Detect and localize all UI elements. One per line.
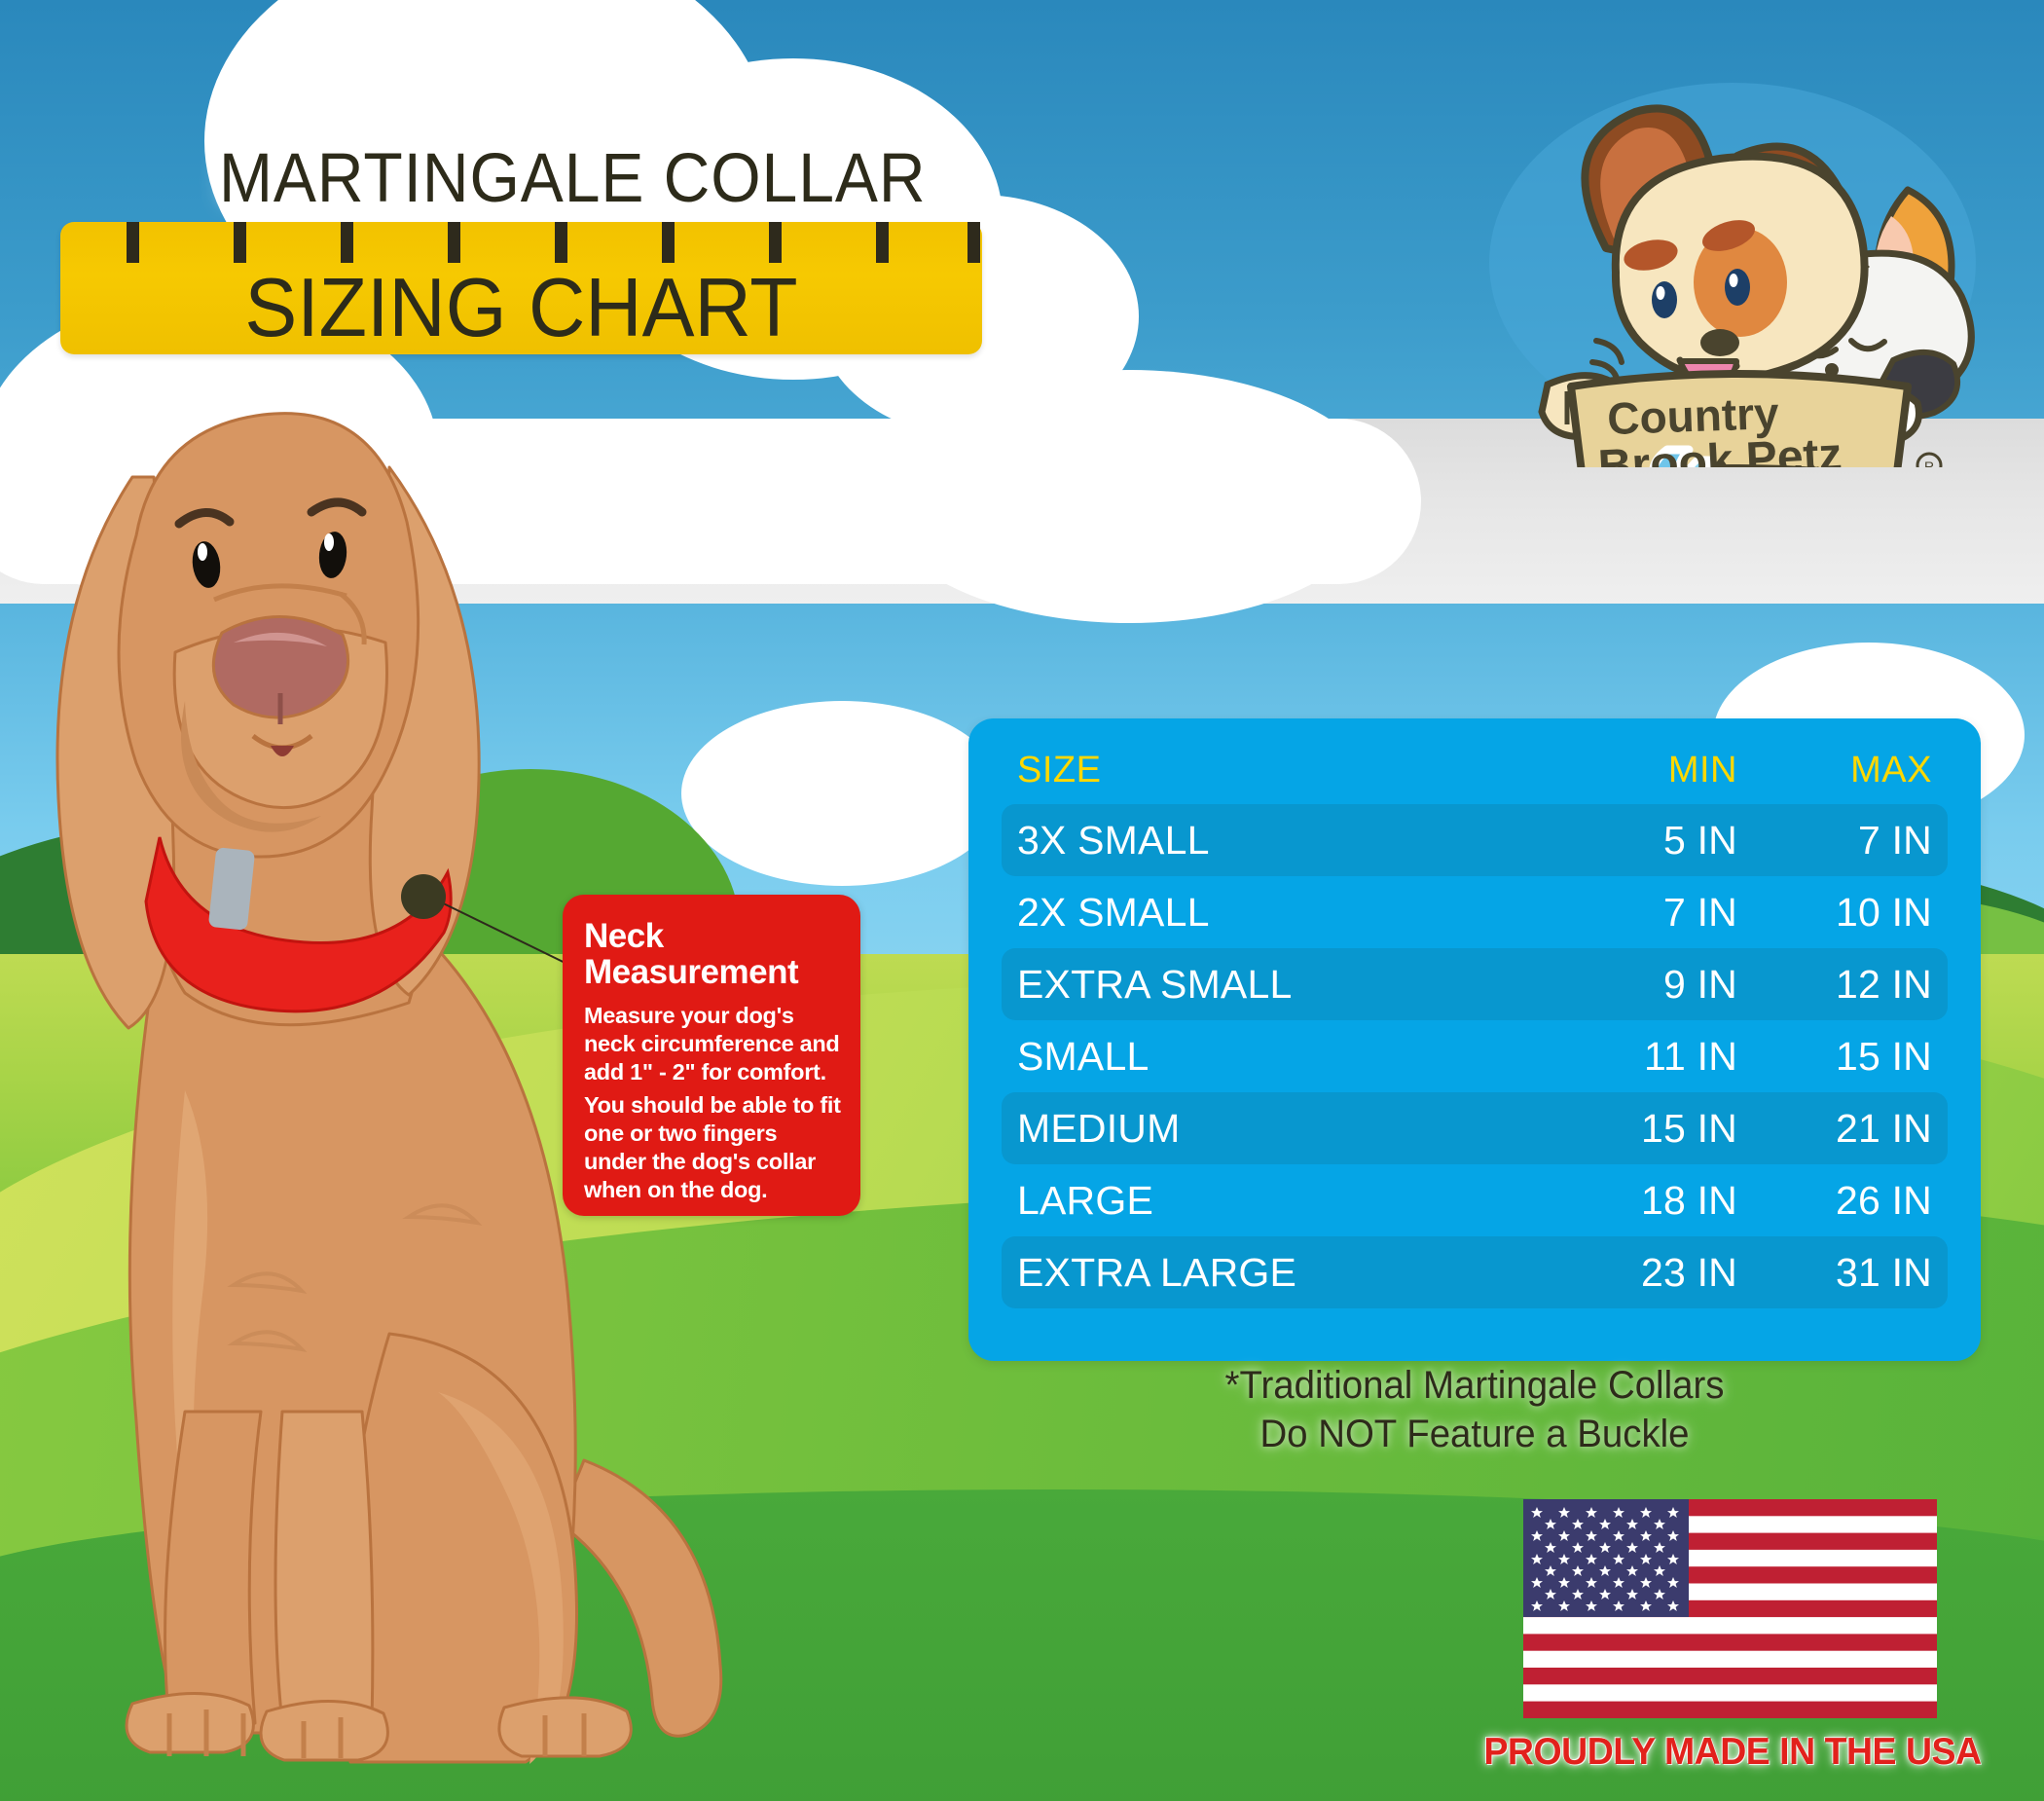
- size-chart-panel: SIZE MIN MAX 3X SMALL 5 IN 7 IN 2X SMALL…: [968, 718, 1981, 1361]
- svg-text:R: R: [1924, 459, 1934, 467]
- cell-size: LARGE: [1017, 1178, 1523, 1224]
- ruler-tick-icon: [341, 222, 353, 263]
- table-row: EXTRA SMALL 9 IN 12 IN: [1002, 948, 1948, 1020]
- usa-flag-icon: [1523, 1499, 1937, 1750]
- brand-logo: Country Brook Petz R: [1489, 78, 1986, 467]
- table-row: MEDIUM 15 IN 21 IN: [1002, 1092, 1948, 1164]
- cell-min: 9 IN: [1523, 962, 1737, 1008]
- banner-title: SIZING CHART: [84, 267, 960, 350]
- cell-size: SMALL: [1017, 1034, 1523, 1080]
- cell-max: 10 IN: [1737, 890, 1932, 936]
- callout-paragraph-1: Measure your dog's neck circumference an…: [584, 1002, 841, 1086]
- ruler-banner: SIZING CHART: [60, 222, 982, 354]
- table-row: SMALL 11 IN 15 IN: [1002, 1020, 1948, 1092]
- cell-min: 23 IN: [1523, 1250, 1737, 1296]
- cell-min: 15 IN: [1523, 1106, 1737, 1152]
- column-header-size: SIZE: [1017, 750, 1523, 791]
- column-header-min: MIN: [1523, 750, 1737, 791]
- ruler-tick-icon: [769, 222, 782, 263]
- cell-size: 2X SMALL: [1017, 890, 1523, 936]
- cell-max: 12 IN: [1737, 962, 1932, 1008]
- buckle-note: *Traditional Martingale Collars Do NOT F…: [989, 1361, 1960, 1458]
- pointer-dot: [401, 874, 446, 919]
- cloud-shape: [876, 370, 1382, 623]
- ruler-tick-icon: [967, 222, 980, 263]
- cell-size: 3X SMALL: [1017, 818, 1523, 864]
- table-row: 2X SMALL 7 IN 10 IN: [1002, 876, 1948, 948]
- page-title: MARTINGALE COLLAR: [219, 139, 926, 218]
- cell-max: 7 IN: [1737, 818, 1932, 864]
- cloud-shape: [623, 10, 681, 63]
- neck-measurement-callout: Neck Measurement Measure your dog's neck…: [563, 895, 860, 1216]
- table-row: LARGE 18 IN 26 IN: [1002, 1164, 1948, 1236]
- cell-size: EXTRA SMALL: [1017, 962, 1523, 1008]
- column-header-max: MAX: [1737, 750, 1932, 791]
- ruler-tick-icon: [876, 222, 889, 263]
- ruler-tick-icon: [448, 222, 460, 263]
- callout-paragraph-2: You should be able to fit one or two fin…: [584, 1091, 841, 1204]
- cell-max: 15 IN: [1737, 1034, 1932, 1080]
- cell-min: 11 IN: [1523, 1034, 1737, 1080]
- cell-max: 21 IN: [1737, 1106, 1932, 1152]
- cell-max: 31 IN: [1737, 1250, 1932, 1296]
- ruler-tick-icon: [662, 222, 675, 263]
- cell-max: 26 IN: [1737, 1178, 1932, 1224]
- cell-min: 18 IN: [1523, 1178, 1737, 1224]
- made-in-usa-label: PROUDLY MADE IN THE USA: [1471, 1731, 1994, 1774]
- ruler-tick-icon: [127, 222, 139, 263]
- cell-min: 7 IN: [1523, 890, 1737, 936]
- callout-heading: Neck Measurement: [584, 918, 841, 990]
- ruler-tick-icon: [555, 222, 567, 263]
- ruler-tick-icon: [234, 222, 246, 263]
- table-row: EXTRA LARGE 23 IN 31 IN: [1002, 1236, 1948, 1308]
- table-header-row: SIZE MIN MAX: [1002, 736, 1948, 804]
- cell-size: MEDIUM: [1017, 1106, 1523, 1152]
- cell-size: EXTRA LARGE: [1017, 1250, 1523, 1296]
- table-row: 3X SMALL 5 IN 7 IN: [1002, 804, 1948, 876]
- cell-min: 5 IN: [1523, 818, 1737, 864]
